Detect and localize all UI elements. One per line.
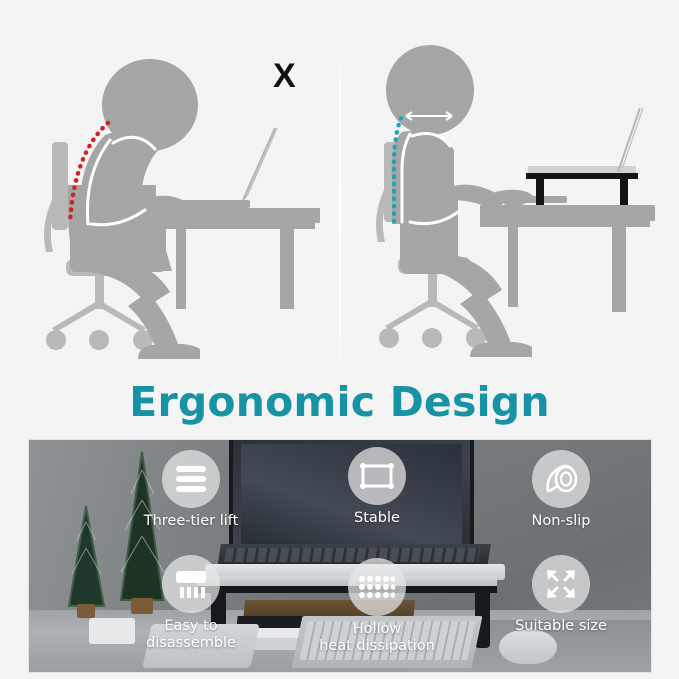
tree-foliage <box>61 504 111 622</box>
feature-label: Stable <box>307 510 447 527</box>
good-posture-illustration <box>340 0 679 370</box>
dot-grid-icon <box>348 558 406 616</box>
feature-non-slip: Non-slip <box>491 450 631 530</box>
feature-stable: Stable <box>307 447 447 527</box>
feature-easy-to-disassemble: Easy to disassemble <box>121 555 261 651</box>
infographic-page: X <box>0 0 679 679</box>
feature-suitable-size: Suitable size <box>491 555 631 635</box>
feature-label: Easy to disassemble <box>121 618 261 651</box>
platform-with-legs-icon <box>162 555 220 613</box>
mouse <box>499 630 557 664</box>
three-bars-icon <box>162 450 220 508</box>
tape-roll-icon <box>532 450 590 508</box>
feature-label: Three-tier lift <box>121 513 261 530</box>
feature-label: Non-slip <box>491 513 631 530</box>
comparison-panel-good <box>340 0 679 370</box>
page-title: Ergonomic Design <box>0 378 679 426</box>
christmas-tree-small <box>61 504 111 622</box>
feature-label: Suitable size <box>491 618 631 635</box>
rectangle-corner-nodes-icon <box>348 447 406 505</box>
four-way-arrows-icon <box>532 555 590 613</box>
feature-label: Hollow heat dissipation <box>307 621 447 654</box>
product-photo: Three-tier lift Stable <box>29 440 651 672</box>
feature-hollow-heat-dissipation: Hollow heat dissipation <box>307 558 447 654</box>
x-mark-icon: X <box>273 59 296 93</box>
feature-three-tier-lift: Three-tier lift <box>121 450 261 530</box>
comparison-panel-bad: X <box>0 0 339 370</box>
bad-posture-illustration <box>0 0 339 370</box>
posture-comparison: X <box>0 0 679 370</box>
